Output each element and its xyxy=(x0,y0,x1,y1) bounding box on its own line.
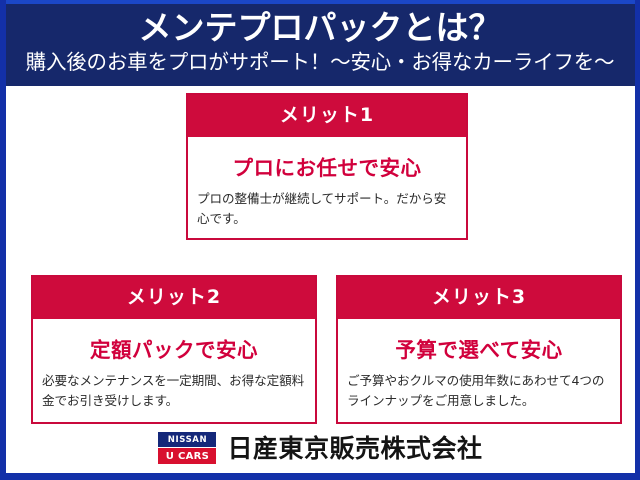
ucars-logo-text: U CARS xyxy=(158,448,216,464)
page-title: メンテプロパックとは？ xyxy=(0,11,640,44)
merit-headline-1: プロにお任せで安心 xyxy=(197,151,457,181)
merit-text-3: ご予算やおクルマの使用年数にあわせて4つのラインナップをご用意しました。 xyxy=(347,371,611,412)
merit-body-3: 予算で選べて安心 ご予算やおクルマの使用年数にあわせて4つのラインナップをご用意… xyxy=(338,333,620,412)
merit-body-2: 定額パックで安心 必要なメンテナンスを一定期間、お得な定額料金でお引き受けします… xyxy=(33,333,315,412)
merit-badge-3: メリット3 xyxy=(338,277,620,319)
merit-text-1: プロの整備士が継続してサポート。だから安心です。 xyxy=(197,189,457,230)
page-subtitle: 購入後のお車をプロがサポート！～安心・お得なカーライフを～ xyxy=(0,52,640,73)
promo-poster: メンテプロパックとは？ 購入後のお車をプロがサポート！～安心・お得なカーライフを… xyxy=(0,0,640,480)
merit-badge-2: メリット2 xyxy=(33,277,315,319)
merit-card-3: メリット3 予算で選べて安心 ご予算やおクルマの使用年数にあわせて4つのラインナ… xyxy=(336,275,622,424)
poster-header: メンテプロパックとは？ 購入後のお車をプロがサポート！～安心・お得なカーライフを… xyxy=(0,0,640,86)
company-name: 日産東京販売株式会社 xyxy=(227,436,482,461)
merit-badge-1: メリット1 xyxy=(188,95,466,137)
merit-headline-2: 定額パックで安心 xyxy=(42,333,306,363)
merit-headline-3: 予算で選べて安心 xyxy=(347,333,611,363)
merit-card-1: メリット1 プロにお任せで安心 プロの整備士が継続してサポート。だから安心です。 xyxy=(186,93,468,240)
merit-card-2: メリット2 定額パックで安心 必要なメンテナンスを一定期間、お得な定額料金でお引… xyxy=(31,275,317,424)
merit-text-2: 必要なメンテナンスを一定期間、お得な定額料金でお引き受けします。 xyxy=(42,371,306,412)
nissan-logo-text: NISSAN xyxy=(158,432,216,447)
merit-body-1: プロにお任せで安心 プロの整備士が継続してサポート。だから安心です。 xyxy=(188,151,466,230)
poster-footer: NISSAN U CARS 日産東京販売株式会社 xyxy=(6,427,635,469)
nissan-ucars-logo-icon: NISSAN U CARS xyxy=(158,431,216,465)
